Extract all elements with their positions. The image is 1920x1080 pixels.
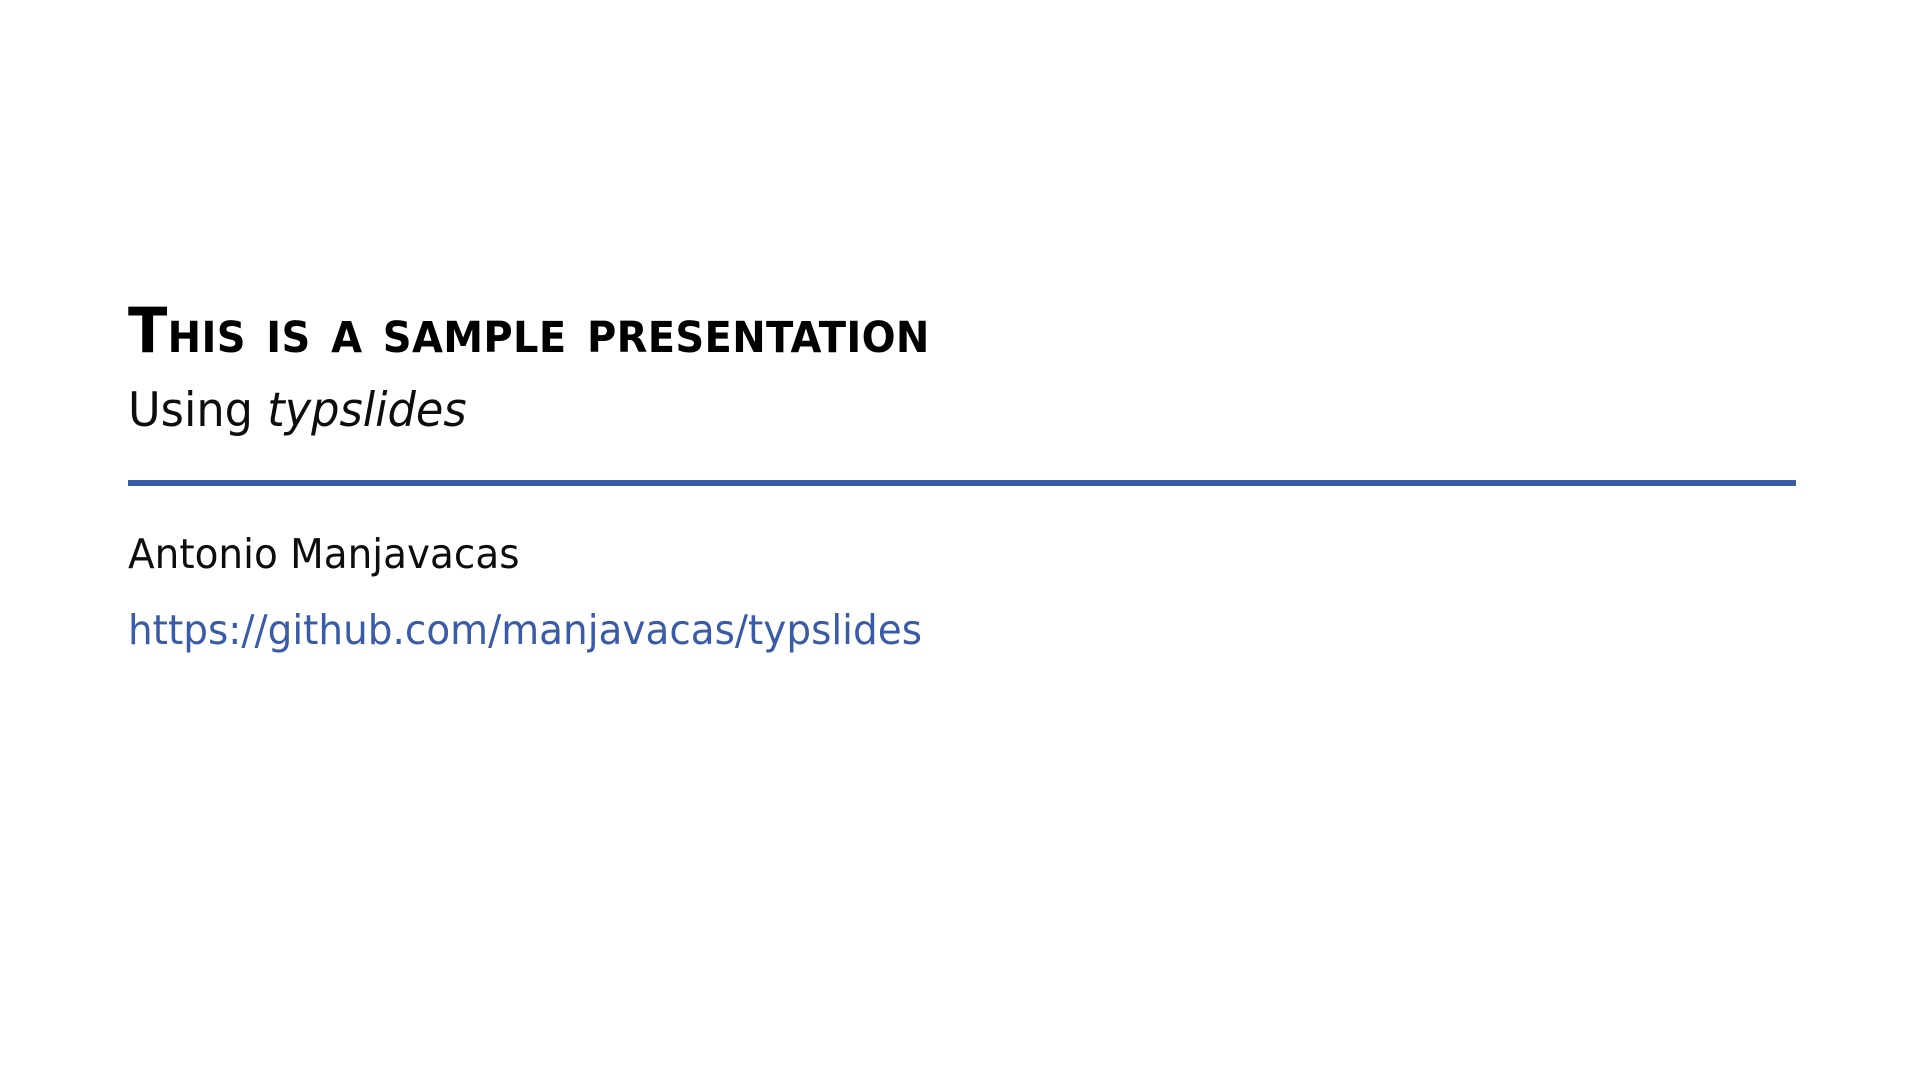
- slide-subtitle: Using typslides: [128, 384, 1713, 438]
- page-title: This is a sample presentation: [128, 300, 1679, 362]
- byline: Antonio Manjavacas https://github.com/ma…: [128, 530, 1796, 655]
- accent-divider: [128, 480, 1796, 486]
- slide-content: This is a sample presentation Using typs…: [128, 300, 1796, 655]
- subtitle-emphasis: typslides: [267, 383, 466, 438]
- title-slide: This is a sample presentation Using typs…: [0, 0, 1920, 1080]
- title-block: This is a sample presentation: [128, 300, 1796, 362]
- repository-link[interactable]: https://github.com/manjavacas/typslides: [128, 606, 922, 655]
- subtitle-prefix: Using: [128, 383, 267, 438]
- author-name: Antonio Manjavacas: [128, 530, 1713, 579]
